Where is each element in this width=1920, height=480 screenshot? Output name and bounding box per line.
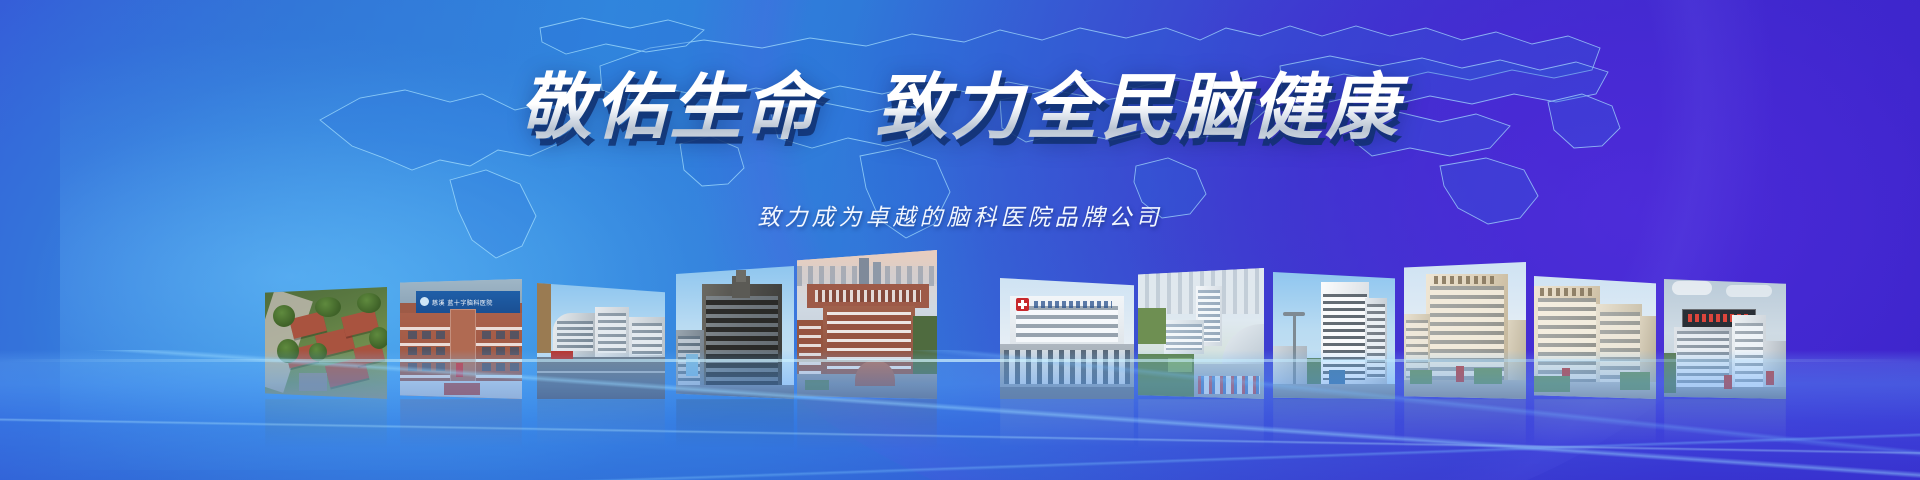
hospital-name-plate xyxy=(1034,301,1112,308)
photo-reflection xyxy=(1138,399,1264,455)
photo-image: 慈溪 蓝十字脑科医院 xyxy=(400,279,522,399)
photo-image xyxy=(1000,278,1134,399)
photo-white-highrise-ward-tower[interactable] xyxy=(1273,272,1395,399)
photo-image xyxy=(1138,268,1264,399)
photo-image xyxy=(265,287,387,399)
photo-red-brick-hospital-complex[interactable] xyxy=(797,250,937,399)
photo-led-sign-hospital-tower[interactable] xyxy=(1664,279,1786,399)
photo-reflection xyxy=(537,399,665,453)
photo-reflection xyxy=(265,399,387,455)
photo-image xyxy=(1534,276,1656,399)
photo-reflection xyxy=(400,399,522,455)
photo-masterplan-rendering-aerial[interactable] xyxy=(1138,268,1264,399)
photo-white-hospital-with-cross[interactable] xyxy=(1000,278,1134,399)
red-cross-icon xyxy=(1016,298,1029,311)
page-title: 敬佑生命 致力全民脑健康 xyxy=(0,68,1920,146)
photo-reflection xyxy=(1664,399,1786,451)
photo-reflection xyxy=(1000,399,1134,453)
photo-image xyxy=(676,266,794,399)
photo-reflection xyxy=(797,399,937,457)
photo-image xyxy=(537,283,665,399)
photo-reflection xyxy=(1404,399,1526,455)
photo-reflection xyxy=(1534,399,1656,451)
photo-reflection xyxy=(676,399,794,455)
photo-image xyxy=(1404,262,1526,399)
photo-beige-tower-street-view[interactable] xyxy=(1534,276,1656,399)
photo-image xyxy=(797,250,937,399)
photo-aerial-campus-red-roofs[interactable] xyxy=(265,287,387,399)
hospital-sign-text: 慈溪 蓝十字脑科医院 xyxy=(432,298,493,307)
photo-image xyxy=(1664,279,1786,399)
page-subtitle: 致力成为卓越的脑科医院品牌公司 xyxy=(0,198,1920,232)
photo-cixi-blue-cross-brain-hospital[interactable]: 慈溪 蓝十字脑科医院 xyxy=(400,279,522,399)
photo-dark-tower-corner-building[interactable] xyxy=(676,266,794,399)
photo-grey-campus-courtyard[interactable] xyxy=(537,283,665,399)
photo-reflection xyxy=(1273,399,1395,453)
photo-beige-modern-hospital[interactable] xyxy=(1404,262,1526,399)
photo-image xyxy=(1273,272,1395,399)
hospital-group-banner: 敬佑生命 致力全民脑健康 致力成为卓越的脑科医院品牌公司 xyxy=(0,0,1920,480)
